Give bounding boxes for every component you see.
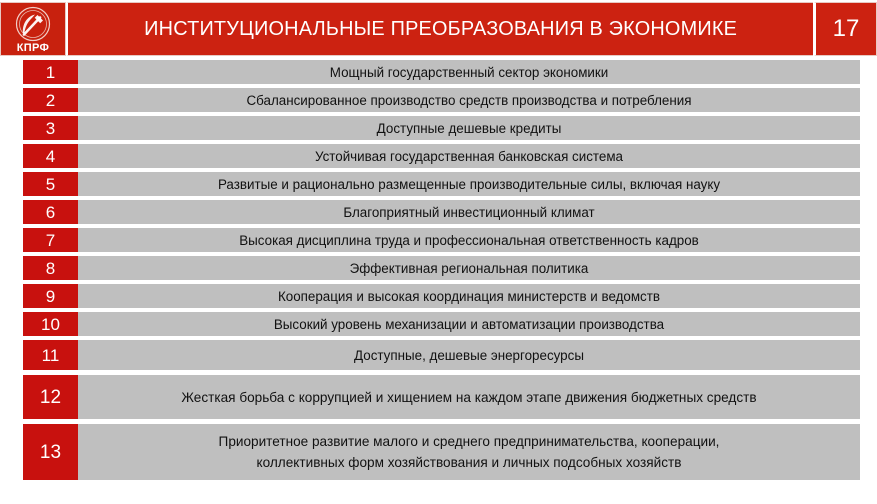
item-label: Сбалансированное производство средств пр… (78, 88, 860, 112)
slide-root: КПРФ ИНСТИТУЦИОНАЛЬНЫЕ ПРЕОБРАЗОВАНИЯ В … (0, 0, 877, 504)
item-label: Эффективная региональная политика (78, 256, 860, 280)
list-item[interactable]: 12Жесткая борьба с коррупцией и хищением… (0, 375, 877, 419)
item-number-badge: 5 (23, 172, 78, 196)
item-label: Мощный государственный сектор экономики (78, 60, 860, 84)
item-label: Приоритетное развитие малого и среднего … (78, 424, 860, 480)
list-item[interactable]: 7Высокая дисциплина труда и профессионал… (0, 228, 877, 252)
item-number-badge: 1 (23, 60, 78, 84)
item-label: Развитые и рационально размещенные произ… (78, 172, 860, 196)
list-item[interactable]: 5Развитые и рационально размещенные прои… (0, 172, 877, 196)
slide-header: КПРФ ИНСТИТУЦИОНАЛЬНЫЕ ПРЕОБРАЗОВАНИЯ В … (0, 2, 877, 56)
list-item[interactable]: 1Мощный государственный сектор экономики (0, 60, 877, 84)
item-label: Доступные дешевые кредиты (78, 116, 860, 140)
list-item[interactable]: 9Кооперация и высокая координация минист… (0, 284, 877, 308)
item-number-badge: 12 (23, 375, 78, 419)
item-number-badge: 9 (23, 284, 78, 308)
item-number-badge: 13 (23, 424, 78, 480)
item-number-badge: 2 (23, 88, 78, 112)
list-item[interactable]: 3Доступные дешевые кредиты (0, 116, 877, 140)
item-label: Благоприятный инвестиционный климат (78, 200, 860, 224)
hammer-and-sickle-icon (13, 6, 53, 44)
page-number: 17 (833, 17, 860, 41)
list-item[interactable]: 4Устойчивая государственная банковская с… (0, 144, 877, 168)
list-item[interactable]: 13Приоритетное развитие малого и среднег… (0, 424, 877, 480)
item-number-badge: 7 (23, 228, 78, 252)
list-item[interactable]: 8Эффективная региональная политика (0, 256, 877, 280)
items-list: 1Мощный государственный сектор экономики… (0, 60, 877, 480)
kprf-logo-caption: КПРФ (1, 42, 65, 54)
slide-title-bar: ИНСТИТУЦИОНАЛЬНЫЕ ПРЕОБРАЗОВАНИЯ В ЭКОНО… (67, 2, 813, 56)
item-number-badge: 4 (23, 144, 78, 168)
page-number-box: 17 (814, 2, 877, 56)
item-number-badge: 10 (23, 312, 78, 336)
item-label: Кооперация и высокая координация министе… (78, 284, 860, 308)
item-label: Высокая дисциплина труда и профессиональ… (78, 228, 860, 252)
page-title: ИНСТИТУЦИОНАЛЬНЫЕ ПРЕОБРАЗОВАНИЯ В ЭКОНО… (144, 17, 737, 41)
item-label: Жесткая борьба с коррупцией и хищением н… (78, 375, 860, 419)
item-label-line: коллективных форм хозяйствования и личны… (257, 452, 682, 473)
item-number-badge: 3 (23, 116, 78, 140)
list-item[interactable]: 10Высокий уровень механизации и автомати… (0, 312, 877, 336)
item-label: Доступные, дешевые энергоресурсы (78, 340, 860, 370)
item-label: Высокий уровень механизации и автоматиза… (78, 312, 860, 336)
list-item[interactable]: 11Доступные, дешевые энергоресурсы (0, 340, 877, 370)
list-item[interactable]: 6Благоприятный инвестиционный климат (0, 200, 877, 224)
item-number-badge: 8 (23, 256, 78, 280)
item-label-line: Приоритетное развитие малого и среднего … (219, 431, 720, 452)
kprf-logo: КПРФ (0, 2, 66, 56)
item-label: Устойчивая государственная банковская си… (78, 144, 860, 168)
list-item[interactable]: 2Сбалансированное производство средств п… (0, 88, 877, 112)
item-number-badge: 6 (23, 200, 78, 224)
item-number-badge: 11 (23, 340, 78, 370)
